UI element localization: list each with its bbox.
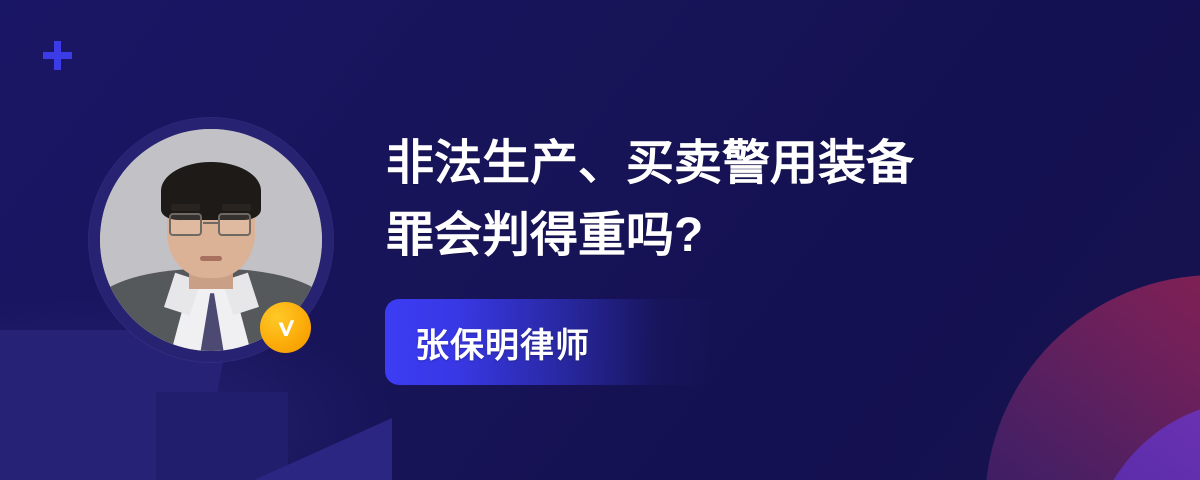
lawyer-question-banner: 非法生产、买卖警用装备 罪会判得重吗? 张保明律师	[0, 0, 1200, 480]
plus-icon	[43, 41, 72, 70]
page-title: 非法生产、买卖警用装备 罪会判得重吗?	[386, 128, 1086, 272]
lawyer-name-badge[interactable]: 张保明律师	[385, 299, 717, 385]
verified-check-icon	[260, 302, 311, 353]
lawyer-name-label: 张保明律师	[385, 318, 590, 367]
background-polygon-middle	[156, 392, 288, 480]
avatar	[89, 118, 333, 362]
headline-block: 非法生产、买卖警用装备 罪会判得重吗?	[386, 128, 1086, 272]
